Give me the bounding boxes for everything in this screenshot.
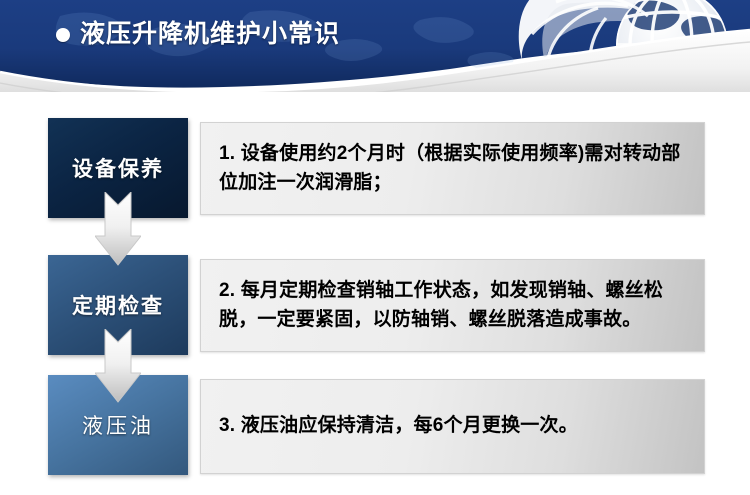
step-content-box-3: 3. 液压油应保持清洁，每6个月更换一次。: [200, 379, 705, 474]
step-label-text: 定期检查: [72, 290, 164, 320]
arrow-down-glyph: [95, 329, 141, 405]
maintenance-flow-list: 设备保养 1. 设备使用约2个月时（根据实际使用频率)需对转动部位加注一次润滑脂…: [0, 100, 750, 495]
header-banner: 液压升降机维护小常识: [0, 0, 750, 100]
step-content-box-1: 1. 设备使用约2个月时（根据实际使用频率)需对转动部位加注一次润滑脂；: [200, 122, 705, 215]
step-content-text: 1. 设备使用约2个月时（根据实际使用频率)需对转动部位加注一次润滑脂；: [219, 140, 688, 197]
step-label-text: 设备保养: [72, 153, 164, 183]
step-content-text: 2. 每月定期检查销轴工作状态，如发现销轴、螺丝松脱，一定要紧固，以防轴销、螺丝…: [219, 277, 688, 334]
page-title-text: 液压升降机维护小常识: [80, 22, 340, 47]
step-label-text: 液压油: [82, 410, 154, 440]
arrow-down-icon: [95, 192, 141, 268]
page-title: 液压升降机维护小常识: [56, 22, 340, 47]
arrow-down-icon: [95, 329, 141, 405]
bullet-dot-icon: [56, 28, 70, 42]
step-content-text: 3. 液压油应保持清洁，每6个月更换一次。: [219, 412, 578, 441]
banner-background-graphic: [0, 0, 750, 100]
step-content-box-2: 2. 每月定期检查销轴工作状态，如发现销轴、螺丝松脱，一定要紧固，以防轴销、螺丝…: [200, 259, 705, 352]
arrow-down-glyph: [95, 192, 141, 268]
